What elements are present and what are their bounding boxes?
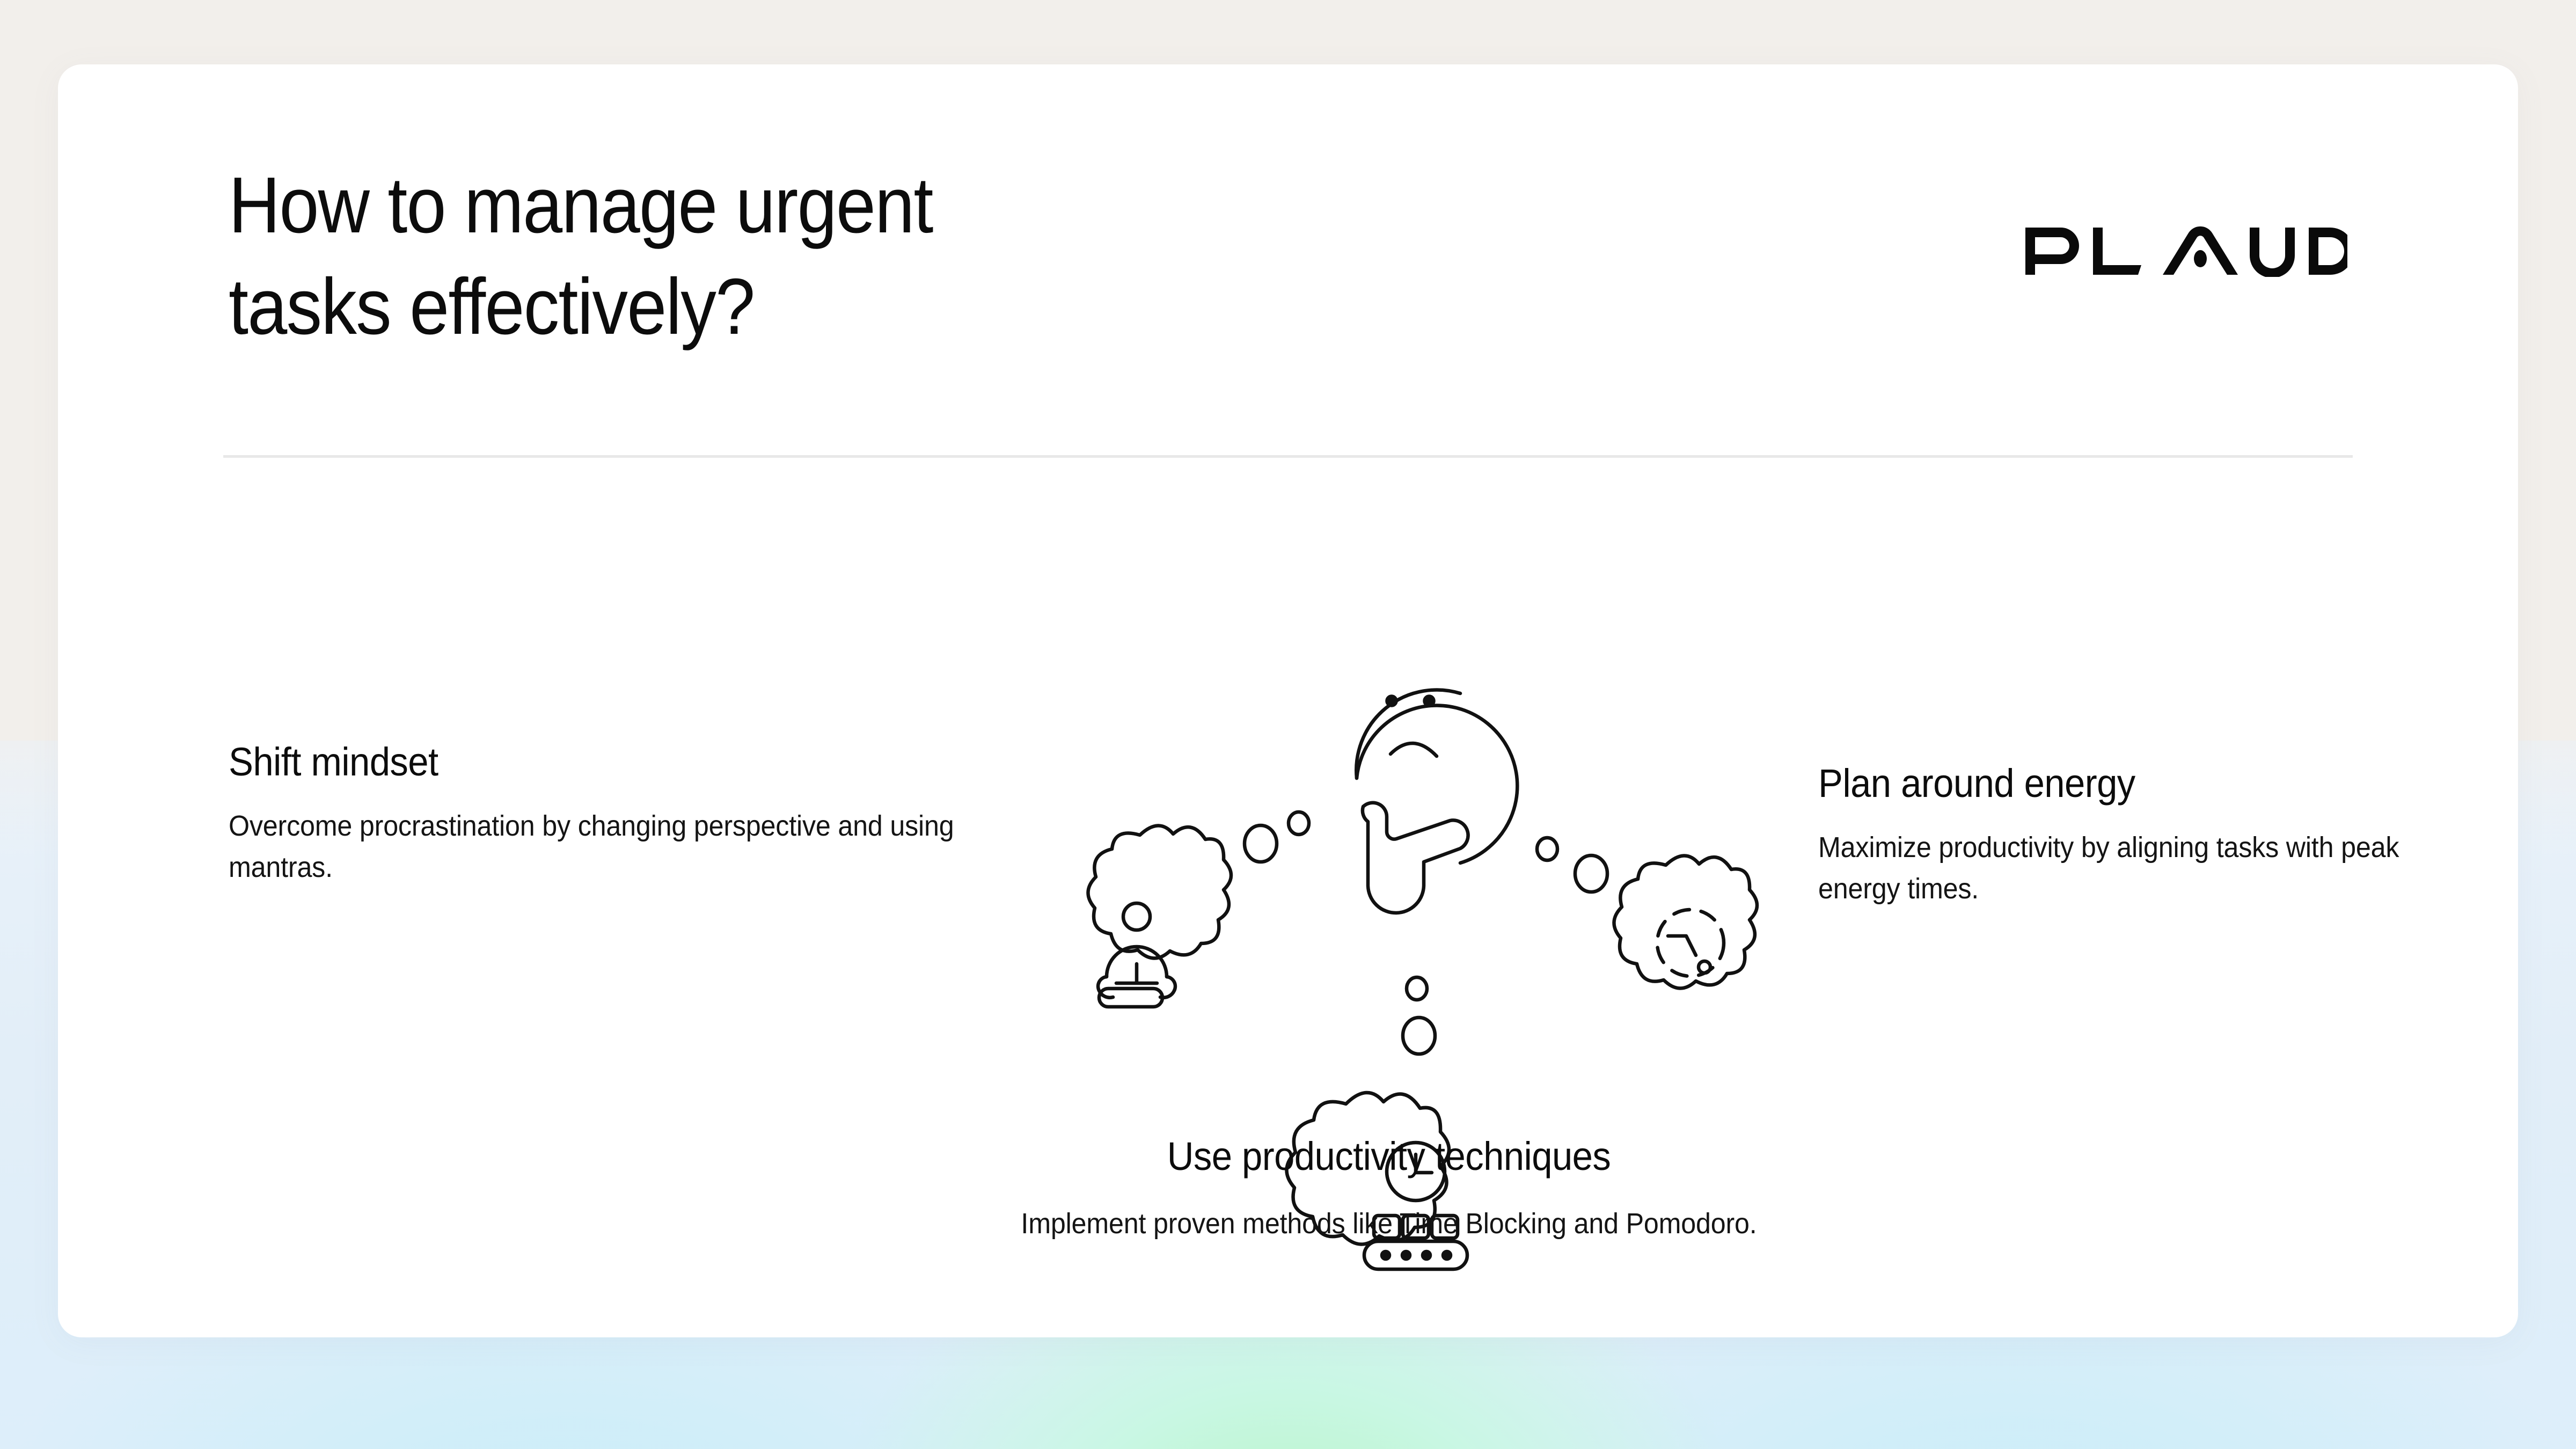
plaud-logo [2025,225,2347,277]
bubble-right [1614,855,1757,988]
page-title: How to manage urgent tasks effectively? [229,155,1291,358]
trail-dot [1575,855,1607,892]
block-use-productivity-techniques: Use productivity techniques Implement pr… [895,1132,1883,1245]
block-left-title: Shift mindset [229,738,957,786]
block-right-title: Plan around energy [1818,759,2417,808]
trail-dot [1245,825,1277,862]
block-bottom-title: Use productivity techniques [930,1132,1848,1181]
slide-card: How to manage urgent tasks effectively? [58,64,2518,1337]
trail-dot [1403,1018,1435,1054]
thinking-illustration [1035,601,1775,1073]
block-plan-around-energy: Plan around energy Maximize productivity… [1818,759,2462,910]
bubble-left [1088,825,1231,1007]
trail-dot [1289,812,1309,835]
block-right-body: Maximize productivity by aligning tasks … [1818,827,2417,909]
thinking-face-icon [1356,690,1517,913]
header-divider [223,455,2353,458]
block-left-body: Overcome procrastination by changing per… [229,806,957,888]
block-bottom-body: Implement proven methods like Time Block… [930,1203,1848,1245]
trail-dot [1407,977,1427,1000]
block-shift-mindset: Shift mindset Overcome procrastination b… [229,738,1012,888]
trail-dot [1537,838,1557,860]
